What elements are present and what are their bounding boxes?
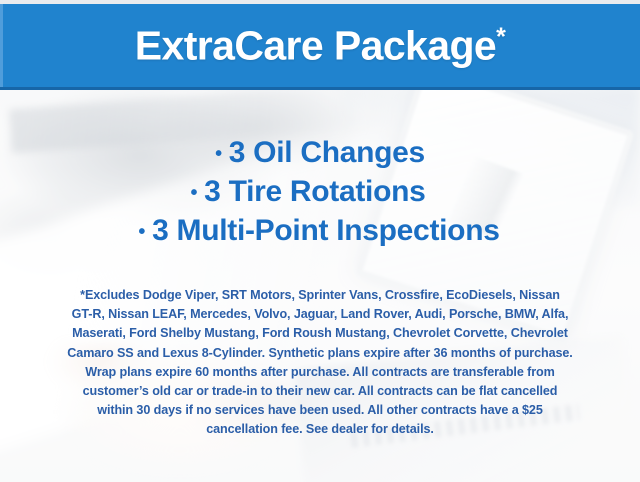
fineprint-line: Maserati, Ford Shelby Mustang, Ford Rous… [28,324,612,343]
header-banner: ExtraCare Package* [0,4,640,87]
fineprint-line: *Excludes Dodge Viper, SRT Motors, Sprin… [28,286,612,305]
benefit-label: 3 Tire Rotations [204,175,425,208]
fineprint-line: customer’s old car or trade-in to their … [28,382,612,401]
page-title-text: ExtraCare Package [135,22,496,68]
extracare-promo-card: ExtraCare Package* •3 Oil Changes •3 Tir… [0,0,640,482]
list-item: •3 Multi-Point Inspections [0,212,640,251]
benefit-label: 3 Multi-Point Inspections [152,214,500,247]
page-title-asterisk: * [496,23,505,51]
fineprint-line: Camaro SS and Lexus 8-Cylinder. Syntheti… [28,344,612,363]
fineprint-line: GT-R, Nissan LEAF, Mercedes, Volvo, Jagu… [28,305,612,324]
fineprint-line: within 30 days if no services have been … [28,401,612,420]
banner-left-edge [0,4,3,87]
fineprint-disclaimer: *Excludes Dodge Viper, SRT Motors, Sprin… [28,286,612,440]
list-item: •3 Tire Rotations [0,173,640,212]
benefit-label: 3 Oil Changes [229,136,425,169]
list-item: •3 Oil Changes [0,134,640,173]
banner-underline [0,87,640,90]
bullet-icon: • [215,143,222,165]
fineprint-line: Wrap plans expire 60 months after purcha… [28,363,612,382]
bullet-icon: • [138,221,145,243]
bullet-icon: • [190,182,197,204]
fineprint-line: cancellation fee. See dealer for details… [28,420,612,439]
page-title: ExtraCare Package* [135,25,505,67]
benefits-list: •3 Oil Changes •3 Tire Rotations •3 Mult… [0,134,640,251]
